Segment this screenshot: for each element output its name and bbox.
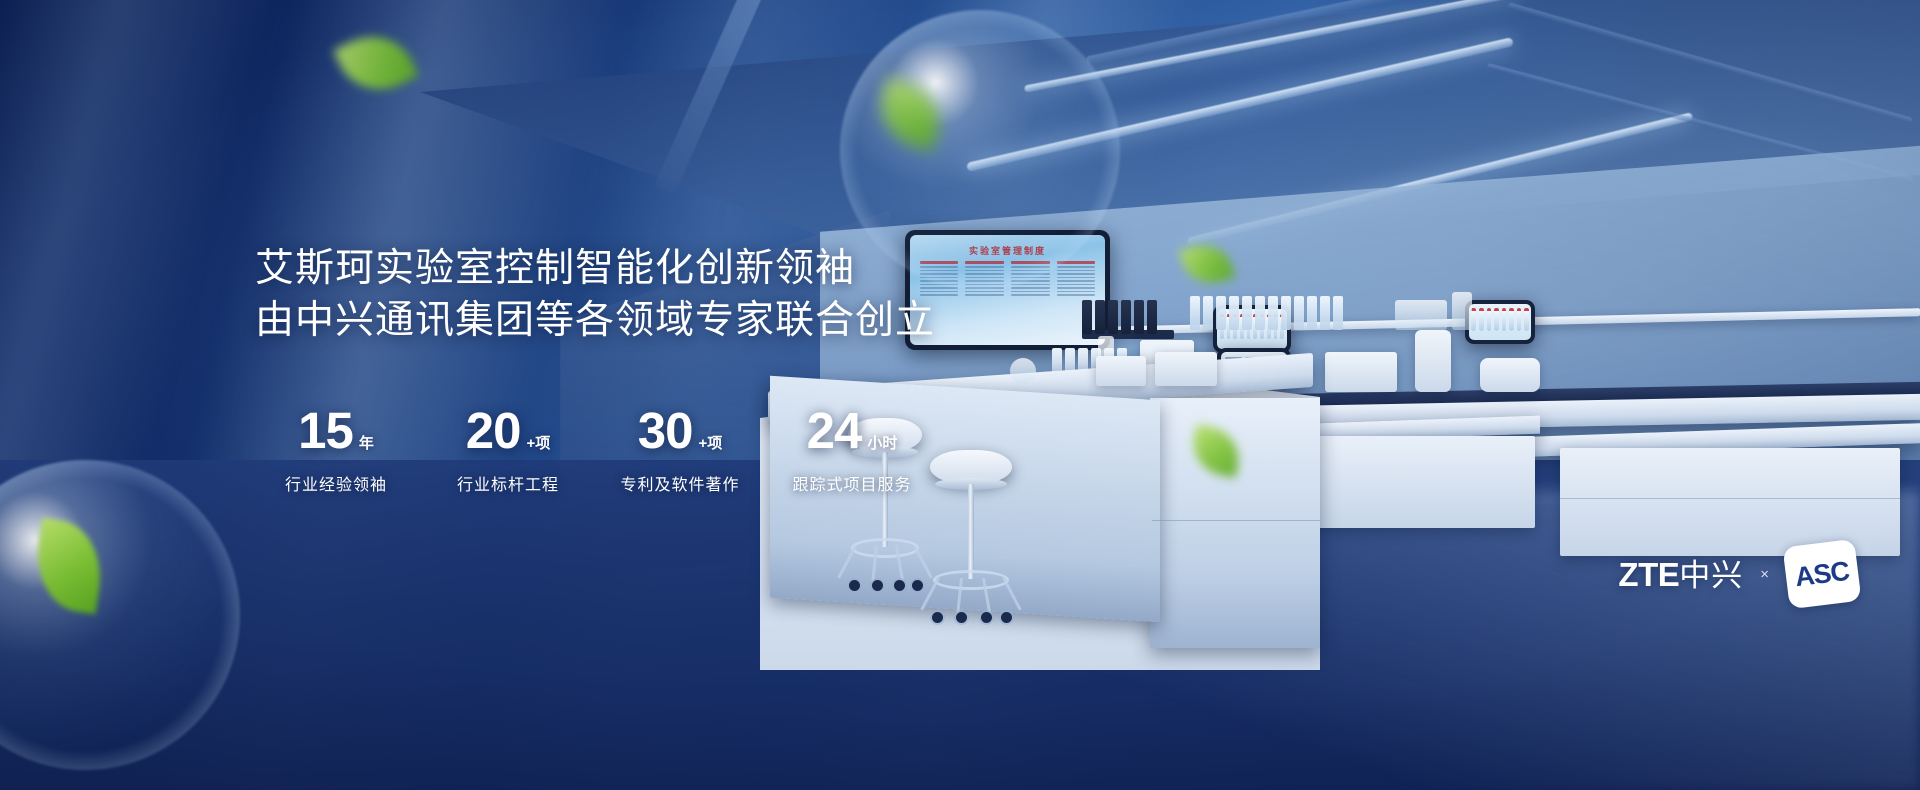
test-tube-rack-back <box>1190 296 1343 330</box>
zte-logo: ZTE中兴 <box>1618 558 1743 591</box>
stat-number-3: 24 <box>807 405 862 456</box>
stat-unit-3: 小时 <box>867 432 897 453</box>
asc-logo-text: ASC <box>1782 539 1861 609</box>
far-cabinet-seam <box>1560 498 1900 499</box>
banner-stage: 实验室管理制度 <box>0 0 1920 790</box>
centrifuge-unit <box>1415 330 1451 392</box>
lab-instrument-right <box>1325 352 1397 392</box>
stat-caption-3: 跟踪式项目服务 <box>766 471 938 495</box>
stat-caption-1: 行业标杆工程 <box>422 471 594 495</box>
stats-row: 15年 行业经验领袖 20+项 行业标杆工程 30+项 专利及软件著作 24小时… <box>250 405 938 495</box>
island-body-front <box>1150 398 1320 648</box>
bottle-rack <box>1082 300 1157 334</box>
wall-tablet-right <box>1465 300 1535 344</box>
zte-logo-cn: 中兴 <box>1679 558 1743 593</box>
island-beaker <box>1010 358 1036 384</box>
far-cabinet-mid <box>1310 436 1535 528</box>
stat-number-2: 30 <box>638 405 693 456</box>
stat-caption-0: 行业经验领袖 <box>250 471 422 495</box>
stat-caption-2: 专利及软件著作 <box>594 471 766 495</box>
stool-right <box>930 450 1012 640</box>
asc-logo: ASC <box>1786 543 1858 605</box>
stat-number-1: 20 <box>466 405 521 456</box>
headline-line-2: 由中兴通讯集团等各领域专家联合创立 <box>255 295 1075 347</box>
stool-right-post <box>968 484 975 579</box>
headline-block: 艾斯珂实验室控制智能化创新领袖 由中兴通讯集团等各领域专家联合创立 <box>255 243 1075 347</box>
stat-unit-1: +项 <box>526 432 550 453</box>
stat-number-0: 15 <box>298 405 353 456</box>
stool-left-legs <box>848 546 922 592</box>
logo-separator-icon: × <box>1760 566 1769 583</box>
stat-item-2: 30+项 专利及软件著作 <box>594 405 766 495</box>
stat-item-3: 24小时 跟踪式项目服务 <box>766 405 938 495</box>
island-instrument-a <box>1096 356 1146 386</box>
logo-lockup: ZTE中兴 × ASC <box>1618 543 1858 605</box>
reagent-bottle-tall <box>1452 292 1472 330</box>
headline-line-1: 艾斯珂实验室控制智能化创新领袖 <box>255 243 1075 295</box>
basin-unit <box>1480 358 1540 392</box>
stat-item-0: 15年 行业经验领袖 <box>250 405 422 495</box>
stat-item-1: 20+项 行业标杆工程 <box>422 405 594 495</box>
stat-unit-2: +项 <box>698 432 722 453</box>
island-instrument-b <box>1155 352 1217 386</box>
stat-unit-0: 年 <box>359 432 374 453</box>
reagent-bottle-group <box>1395 300 1447 330</box>
zte-logo-latin: ZTE <box>1618 556 1679 593</box>
stool-right-legs <box>930 578 1012 624</box>
island-panel-seam <box>1152 520 1320 521</box>
